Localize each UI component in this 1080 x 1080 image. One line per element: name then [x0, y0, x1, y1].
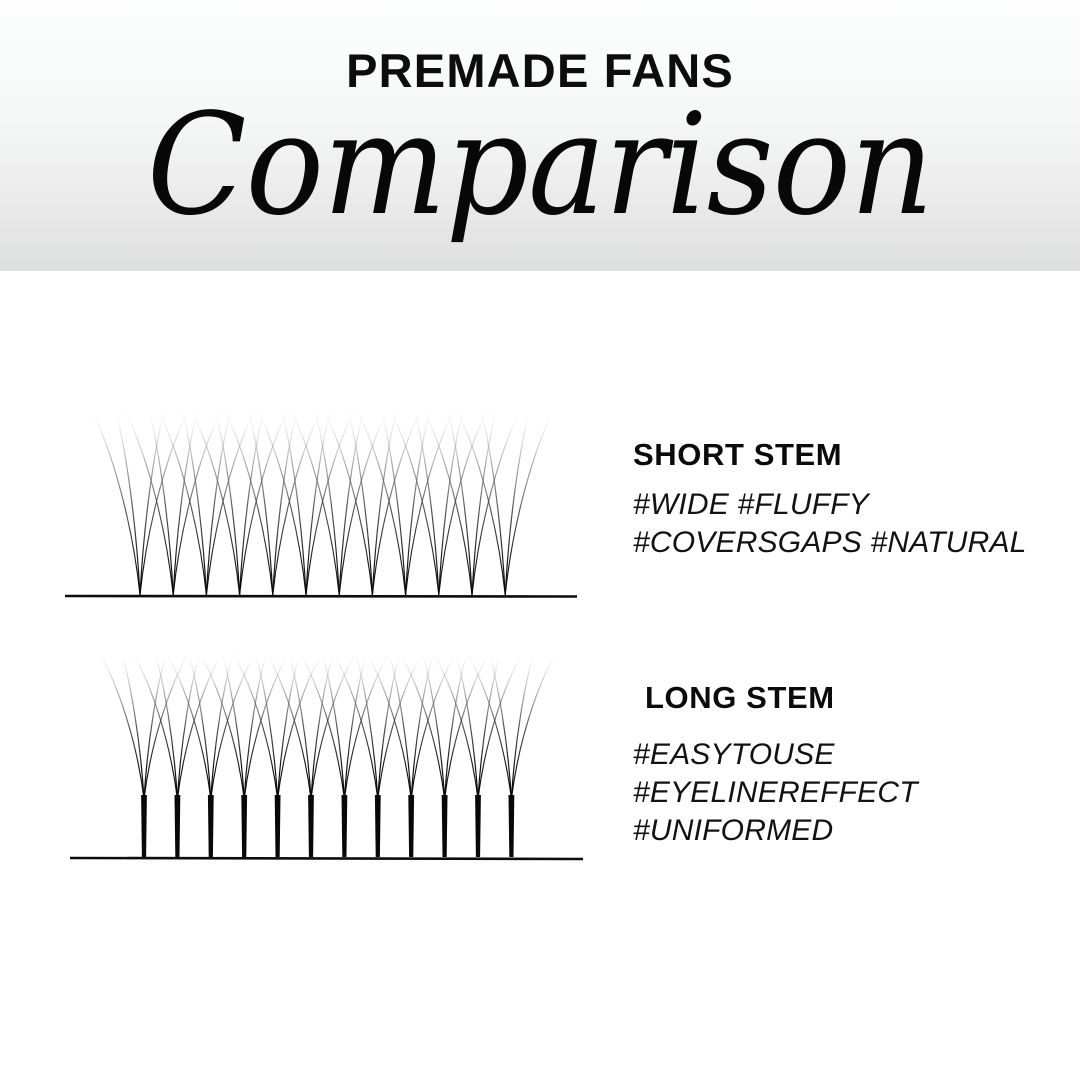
- lash-strand: [406, 413, 453, 595]
- lash-strand: [511, 654, 555, 799]
- lash-strand: [126, 413, 173, 595]
- lash-strand: [505, 413, 552, 595]
- lash-strand: [472, 413, 519, 595]
- lash-strand: [311, 654, 355, 799]
- short-stem-text-block: SHORT STEM #WIDE #FLUFFY #COVERSGAPS #NA…: [633, 438, 1027, 562]
- lash-strand: [478, 654, 522, 799]
- lash-strand: [401, 654, 445, 799]
- long-stem-tags: #EASYTOUSE #EYELINEREFFECT #UNIFORMED: [633, 715, 918, 849]
- lash-strand: [359, 413, 406, 595]
- short-stem-heading: SHORT STEM: [633, 438, 1027, 472]
- lash-strand: [211, 654, 255, 799]
- lash-stem: [375, 795, 381, 857]
- lash-strand: [133, 654, 177, 799]
- lash-stem: [275, 795, 281, 857]
- lash-strand: [100, 654, 144, 799]
- lash-strand: [244, 654, 288, 799]
- lash-strand: [439, 413, 486, 595]
- lash-strand: [278, 654, 322, 799]
- lash-strand: [372, 413, 419, 595]
- lash-strand: [200, 654, 244, 799]
- lash-strand: [445, 654, 489, 799]
- lash-strand: [159, 413, 206, 595]
- lash-stem: [308, 795, 314, 857]
- lash-strand: [177, 654, 221, 799]
- long-stem-text-block: LONG STEM #EASYTOUSE #EYELINEREFFECT #UN…: [633, 681, 918, 849]
- lash-strand: [334, 654, 378, 799]
- lash-stem: [442, 795, 448, 857]
- lash-stem: [509, 795, 515, 857]
- poster-canvas: PREMADE FANS Comparison: [0, 0, 1080, 1080]
- lash-strand: [458, 413, 505, 595]
- lash-strand: [144, 654, 188, 799]
- lash-strand: [206, 413, 253, 595]
- page-title-script: Comparison: [38, 95, 1042, 238]
- lash-strand: [434, 654, 478, 799]
- lash-stem: [408, 795, 414, 857]
- lash-strand: [425, 413, 472, 595]
- lash-strip-baseline: [70, 858, 583, 859]
- lash-strand: [267, 654, 311, 799]
- lash-strand: [339, 413, 386, 595]
- lash-strand: [167, 654, 211, 799]
- lash-strand: [240, 413, 287, 595]
- long-stem-lash-fan-diagram: [58, 640, 598, 872]
- short-stem-lash-fan-diagram: [55, 400, 595, 610]
- lash-strand: [392, 413, 439, 595]
- lash-stem: [475, 795, 481, 857]
- lash-strand: [367, 654, 411, 799]
- lash-strand: [467, 654, 511, 799]
- lash-strand: [93, 413, 140, 595]
- lash-strand: [300, 654, 344, 799]
- lash-stem: [141, 795, 147, 857]
- lash-strand: [306, 413, 353, 595]
- lash-strand: [325, 413, 372, 595]
- lash-strand: [411, 654, 455, 799]
- lash-strand: [259, 413, 306, 595]
- lash-strand: [273, 413, 320, 595]
- lash-strand: [344, 654, 388, 799]
- lash-strand: [292, 413, 339, 595]
- lash-strand: [193, 413, 240, 595]
- lash-strand: [226, 413, 273, 595]
- long-stem-heading: LONG STEM: [633, 681, 918, 715]
- short-stem-tags: #WIDE #FLUFFY #COVERSGAPS #NATURAL: [633, 472, 1027, 562]
- lash-strand: [378, 654, 422, 799]
- lash-stem: [342, 795, 348, 857]
- lash-strand: [234, 654, 278, 799]
- lash-strand: [140, 413, 187, 595]
- lash-strand: [173, 413, 220, 595]
- lash-stem: [208, 795, 214, 857]
- lash-stem: [241, 795, 247, 857]
- lash-strip-baseline: [65, 596, 577, 597]
- lash-stem: [175, 795, 181, 857]
